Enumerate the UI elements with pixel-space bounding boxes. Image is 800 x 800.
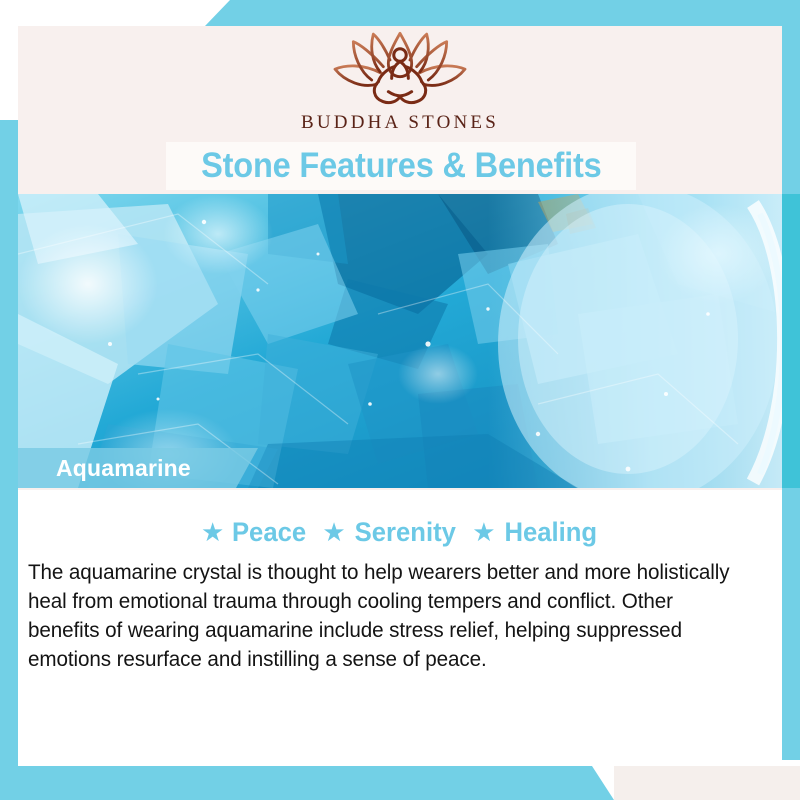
frame-top-band [0, 0, 800, 26]
stone-name-tag: Aquamarine [18, 448, 258, 488]
feature-label: Healing [504, 517, 597, 548]
star-icon: ★ [472, 519, 495, 545]
stone-name-label: Aquamarine [56, 455, 191, 482]
frame-left-band [0, 120, 18, 800]
stone-info-poster: BUDDHA STONES Stone Features & Benefits [0, 0, 800, 800]
star-icon: ★ [201, 519, 224, 545]
star-icon: ★ [322, 519, 345, 545]
brand-logo: BUDDHA STONES [0, 30, 800, 140]
lotus-meditation-figure-icon [315, 30, 485, 110]
aquamarine-crystal-photo [18, 194, 782, 488]
photo-right-teal-strip [782, 194, 800, 488]
frame-bottom-right-corner [614, 766, 800, 800]
feature-item-peace: ★ Peace [201, 517, 308, 548]
brand-name: BUDDHA STONES [301, 112, 499, 134]
feature-label: Peace [232, 517, 306, 548]
page-title: Stone Features & Benefits [201, 146, 602, 186]
feature-item-healing: ★ Healing [472, 517, 599, 548]
feature-keywords-row: ★ Peace ★ Serenity ★ Healing [18, 512, 782, 552]
description-paragraph: The aquamarine crystal is thought to hel… [28, 558, 744, 674]
feature-label: Serenity [354, 517, 455, 548]
title-banner: Stone Features & Benefits [166, 142, 636, 190]
feature-item-serenity: ★ Serenity [322, 517, 458, 548]
